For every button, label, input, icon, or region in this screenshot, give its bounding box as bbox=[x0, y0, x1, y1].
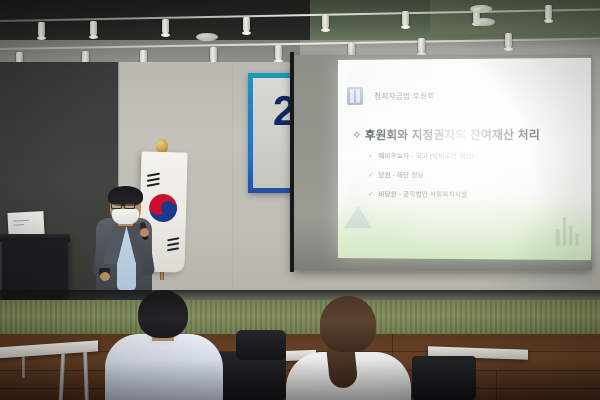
slide-bullet-item: ✓당원 - 해당 정당 bbox=[368, 169, 474, 179]
projection-screen-left-edge bbox=[290, 52, 294, 272]
audience-front-left-hair bbox=[138, 290, 188, 338]
slide-title: ✧후원회와 지정권자의 잔여재산 처리 bbox=[352, 126, 540, 143]
spotlight-icon bbox=[322, 14, 329, 29]
trigram-mark bbox=[147, 173, 160, 177]
slide-kicker-text: 정치자금법 후원회 bbox=[374, 90, 435, 101]
spotlight-icon bbox=[90, 21, 97, 36]
trigram-mark bbox=[167, 247, 179, 251]
slide-bullet-text: 예비후보자 - 국고 (당비로만 해당) bbox=[378, 153, 474, 160]
spotlight-icon bbox=[210, 47, 217, 62]
check-icon: ✓ bbox=[368, 173, 373, 179]
projected-slide: 정치자금법 후원회 ✧후원회와 지정권자의 잔여재산 처리 ✓예비후보자 - 국… bbox=[338, 58, 591, 260]
slide-bullet-text: 비당원 - 공익법인 사회복지시설 bbox=[378, 191, 467, 198]
trigram-mark bbox=[147, 183, 160, 187]
ceiling-green-panel-inner bbox=[430, 0, 600, 34]
audience-front-right-hair bbox=[320, 296, 376, 352]
taeguk-symbol-icon bbox=[149, 194, 178, 223]
slide-building-decoration bbox=[575, 234, 578, 246]
slide-title-text: 후원회와 지정권자의 잔여재산 처리 bbox=[365, 129, 540, 141]
lecture-hall-photo: 2 정치자금법 후원회 ✧후원회와 지정권자의 잔여재산 처리 ✓예비후보자 -… bbox=[0, 0, 600, 400]
spotlight-icon bbox=[162, 19, 169, 34]
chair bbox=[412, 356, 476, 400]
speaker-left-hand bbox=[100, 272, 110, 281]
slide-building-decoration bbox=[556, 229, 560, 245]
dome-light-icon bbox=[473, 18, 495, 26]
slide-title-marker-icon: ✧ bbox=[352, 130, 362, 142]
book-icon bbox=[347, 87, 363, 105]
spotlight-icon bbox=[38, 22, 45, 37]
wall-seam bbox=[232, 62, 233, 292]
dome-light-icon bbox=[196, 33, 218, 41]
table-leg bbox=[22, 356, 25, 378]
slide-building-decoration bbox=[569, 225, 572, 245]
spotlight-icon bbox=[505, 33, 512, 48]
trigram-mark bbox=[167, 237, 179, 241]
slide-hill-decoration bbox=[344, 206, 372, 228]
dome-light-icon bbox=[470, 5, 492, 13]
trigram-mark bbox=[147, 178, 160, 182]
check-icon: ✓ bbox=[368, 192, 373, 198]
chair-back bbox=[236, 330, 286, 360]
speaker-right-hand bbox=[140, 228, 149, 237]
spotlight-icon bbox=[545, 5, 552, 20]
spotlight-icon bbox=[243, 17, 250, 32]
spotlight-icon bbox=[418, 38, 425, 53]
spotlight-icon bbox=[402, 11, 409, 26]
wainscot-texture bbox=[0, 300, 600, 336]
spotlight-icon bbox=[275, 45, 282, 60]
slide-bullet-item: ✓예비후보자 - 국고 (당비로만 해당) bbox=[368, 150, 474, 160]
green-wainscot bbox=[0, 300, 600, 336]
slide-bullet-item: ✓비당원 - 공익법인 사회복지시설 bbox=[368, 188, 474, 198]
slide-building-decoration bbox=[563, 217, 566, 246]
slide-bullet-list: ✓예비후보자 - 국고 (당비로만 해당) ✓당원 - 해당 정당 ✓비당원 -… bbox=[368, 150, 474, 208]
trigram-mark bbox=[167, 242, 179, 246]
face-mask-icon bbox=[112, 209, 139, 224]
check-icon: ✓ bbox=[368, 154, 373, 160]
slide-bullet-text: 당원 - 해당 정당 bbox=[378, 172, 423, 179]
